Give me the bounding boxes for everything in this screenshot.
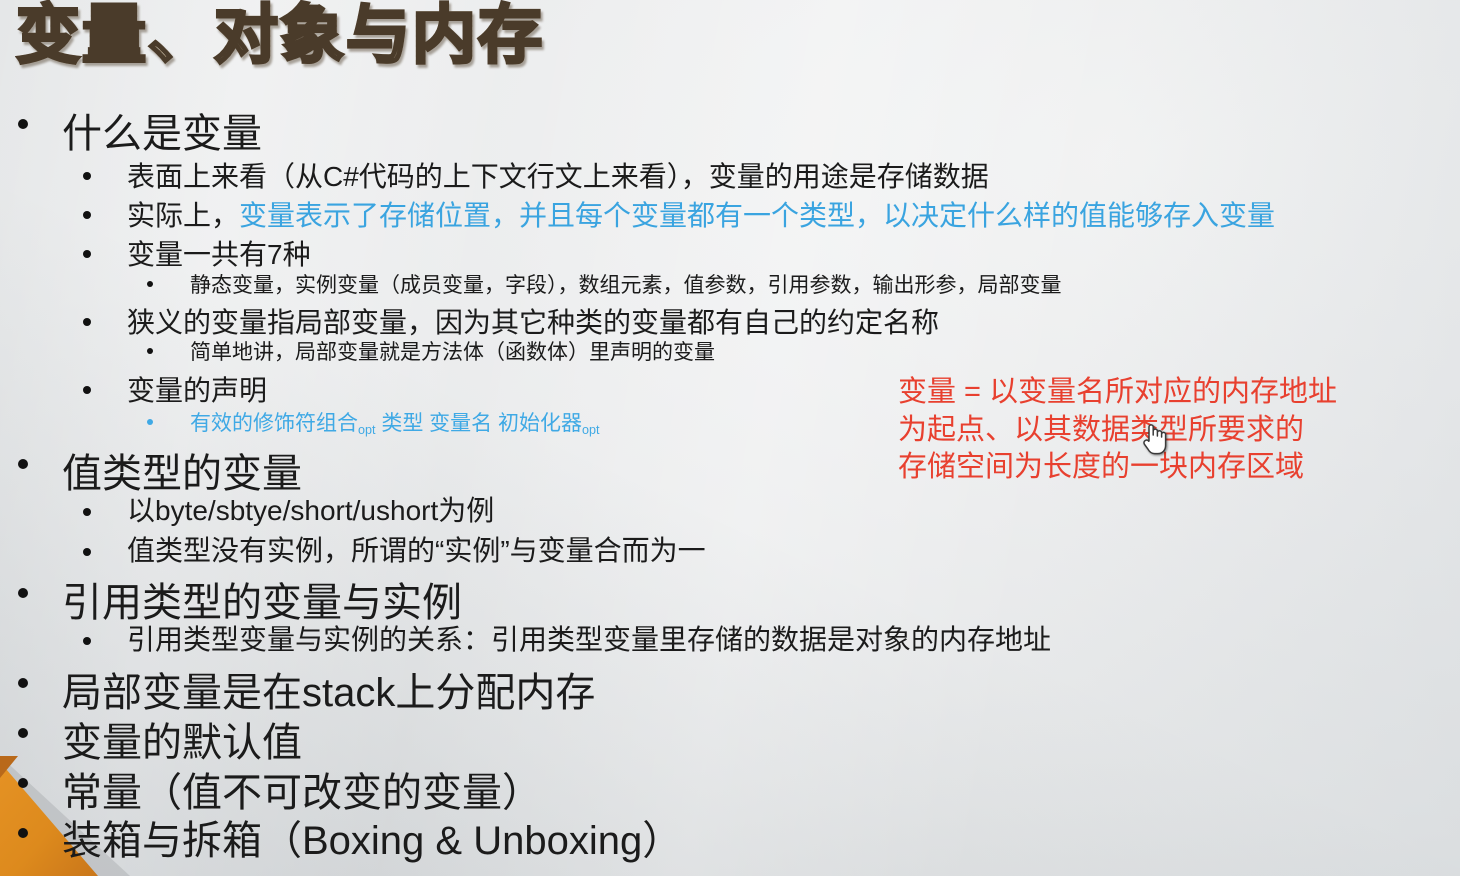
outline-item-actually: 实际上，变量表示了存储位置，并且每个变量都有一个类型，以决定什么样的值能够存入变… [127, 194, 1275, 234]
bullet-marker [83, 250, 91, 258]
bullet-marker [18, 459, 28, 469]
bullet-marker [83, 637, 91, 645]
annotation-line-2: 为起点、以其数据类型所要求的 [898, 412, 1337, 450]
annotation-line-3: 存储空间为长度的一块内存区域 [898, 449, 1337, 487]
outline-item-simply-put: 简单地讲，局部变量就是方法体（函数体）里声明的变量 [190, 336, 715, 366]
bullet-marker [18, 778, 28, 788]
outline-item-narrow-sense: 狭义的变量指局部变量，因为其它种类的变量都有自己的约定名称 [127, 301, 939, 341]
bullet-marker [83, 386, 91, 394]
outline-text-black: 实际上， [127, 200, 239, 231]
slide-canvas: 变量、对象与内存 什么是变量 表面上来看（从C#代码的上下文行文上来看），变量的… [0, 0, 1460, 876]
subscript-opt: opt [582, 423, 600, 437]
bullet-marker [83, 211, 91, 219]
syntax-modifiers: 有效的修饰符组合 [190, 412, 358, 435]
outline-item-kinds-list: 静态变量，实例变量（成员变量，字段），数组元素，值参数，引用参数，输出形参，局部… [190, 269, 1062, 299]
outline-text-highlight: 变量表示了存储位置，并且每个变量都有一个类型，以决定什么样的值能够存入变量 [239, 200, 1275, 231]
bullet-marker [18, 588, 28, 598]
slide-title: 变量、对象与内存 [16, 2, 544, 69]
outline-item-value-type-example: 以byte/sbtye/short/ushort为例 [127, 489, 494, 529]
bullet-marker [83, 548, 91, 556]
outline-item-surface-view: 表面上来看（从C#代码的上下文行文上来看），变量的用途是存储数据 [127, 155, 989, 195]
annotation-line-1: 变量 = 以变量名所对应的内存地址 [898, 374, 1337, 412]
syntax-type-name-init: 类型 变量名 初始化器 [376, 412, 583, 435]
bullet-marker [147, 281, 153, 287]
red-annotation: 变量 = 以变量名所对应的内存地址 为起点、以其数据类型所要求的 存储空间为长度… [898, 374, 1337, 487]
bullet-marker [83, 318, 91, 326]
bullet-marker [18, 828, 28, 838]
subscript-opt: opt [358, 423, 376, 437]
outline-item-reference-relation: 引用类型变量与实例的关系：引用类型变量里存储的数据是对象的内存地址 [127, 618, 1051, 658]
bullet-marker [18, 678, 28, 688]
bullet-marker [83, 508, 91, 516]
outline-item-what-is-variable: 什么是变量 [62, 101, 262, 159]
outline-item-seven-kinds: 变量一共有7种 [127, 233, 311, 273]
bullet-marker [18, 728, 28, 738]
outline-item-declaration-syntax: 有效的修饰符组合opt 类型 变量名 初始化器opt [190, 407, 600, 437]
bullet-marker [83, 172, 91, 180]
outline-item-value-type-no-instance: 值类型没有实例，所谓的“实例”与变量合而为一 [127, 529, 706, 569]
bullet-marker [18, 119, 28, 129]
outline-item-declaration: 变量的声明 [127, 369, 267, 409]
bullet-marker [147, 419, 153, 425]
outline-item-boxing: 装箱与拆箱（Boxing & Unboxing） [62, 808, 682, 866]
bullet-marker [147, 348, 153, 354]
